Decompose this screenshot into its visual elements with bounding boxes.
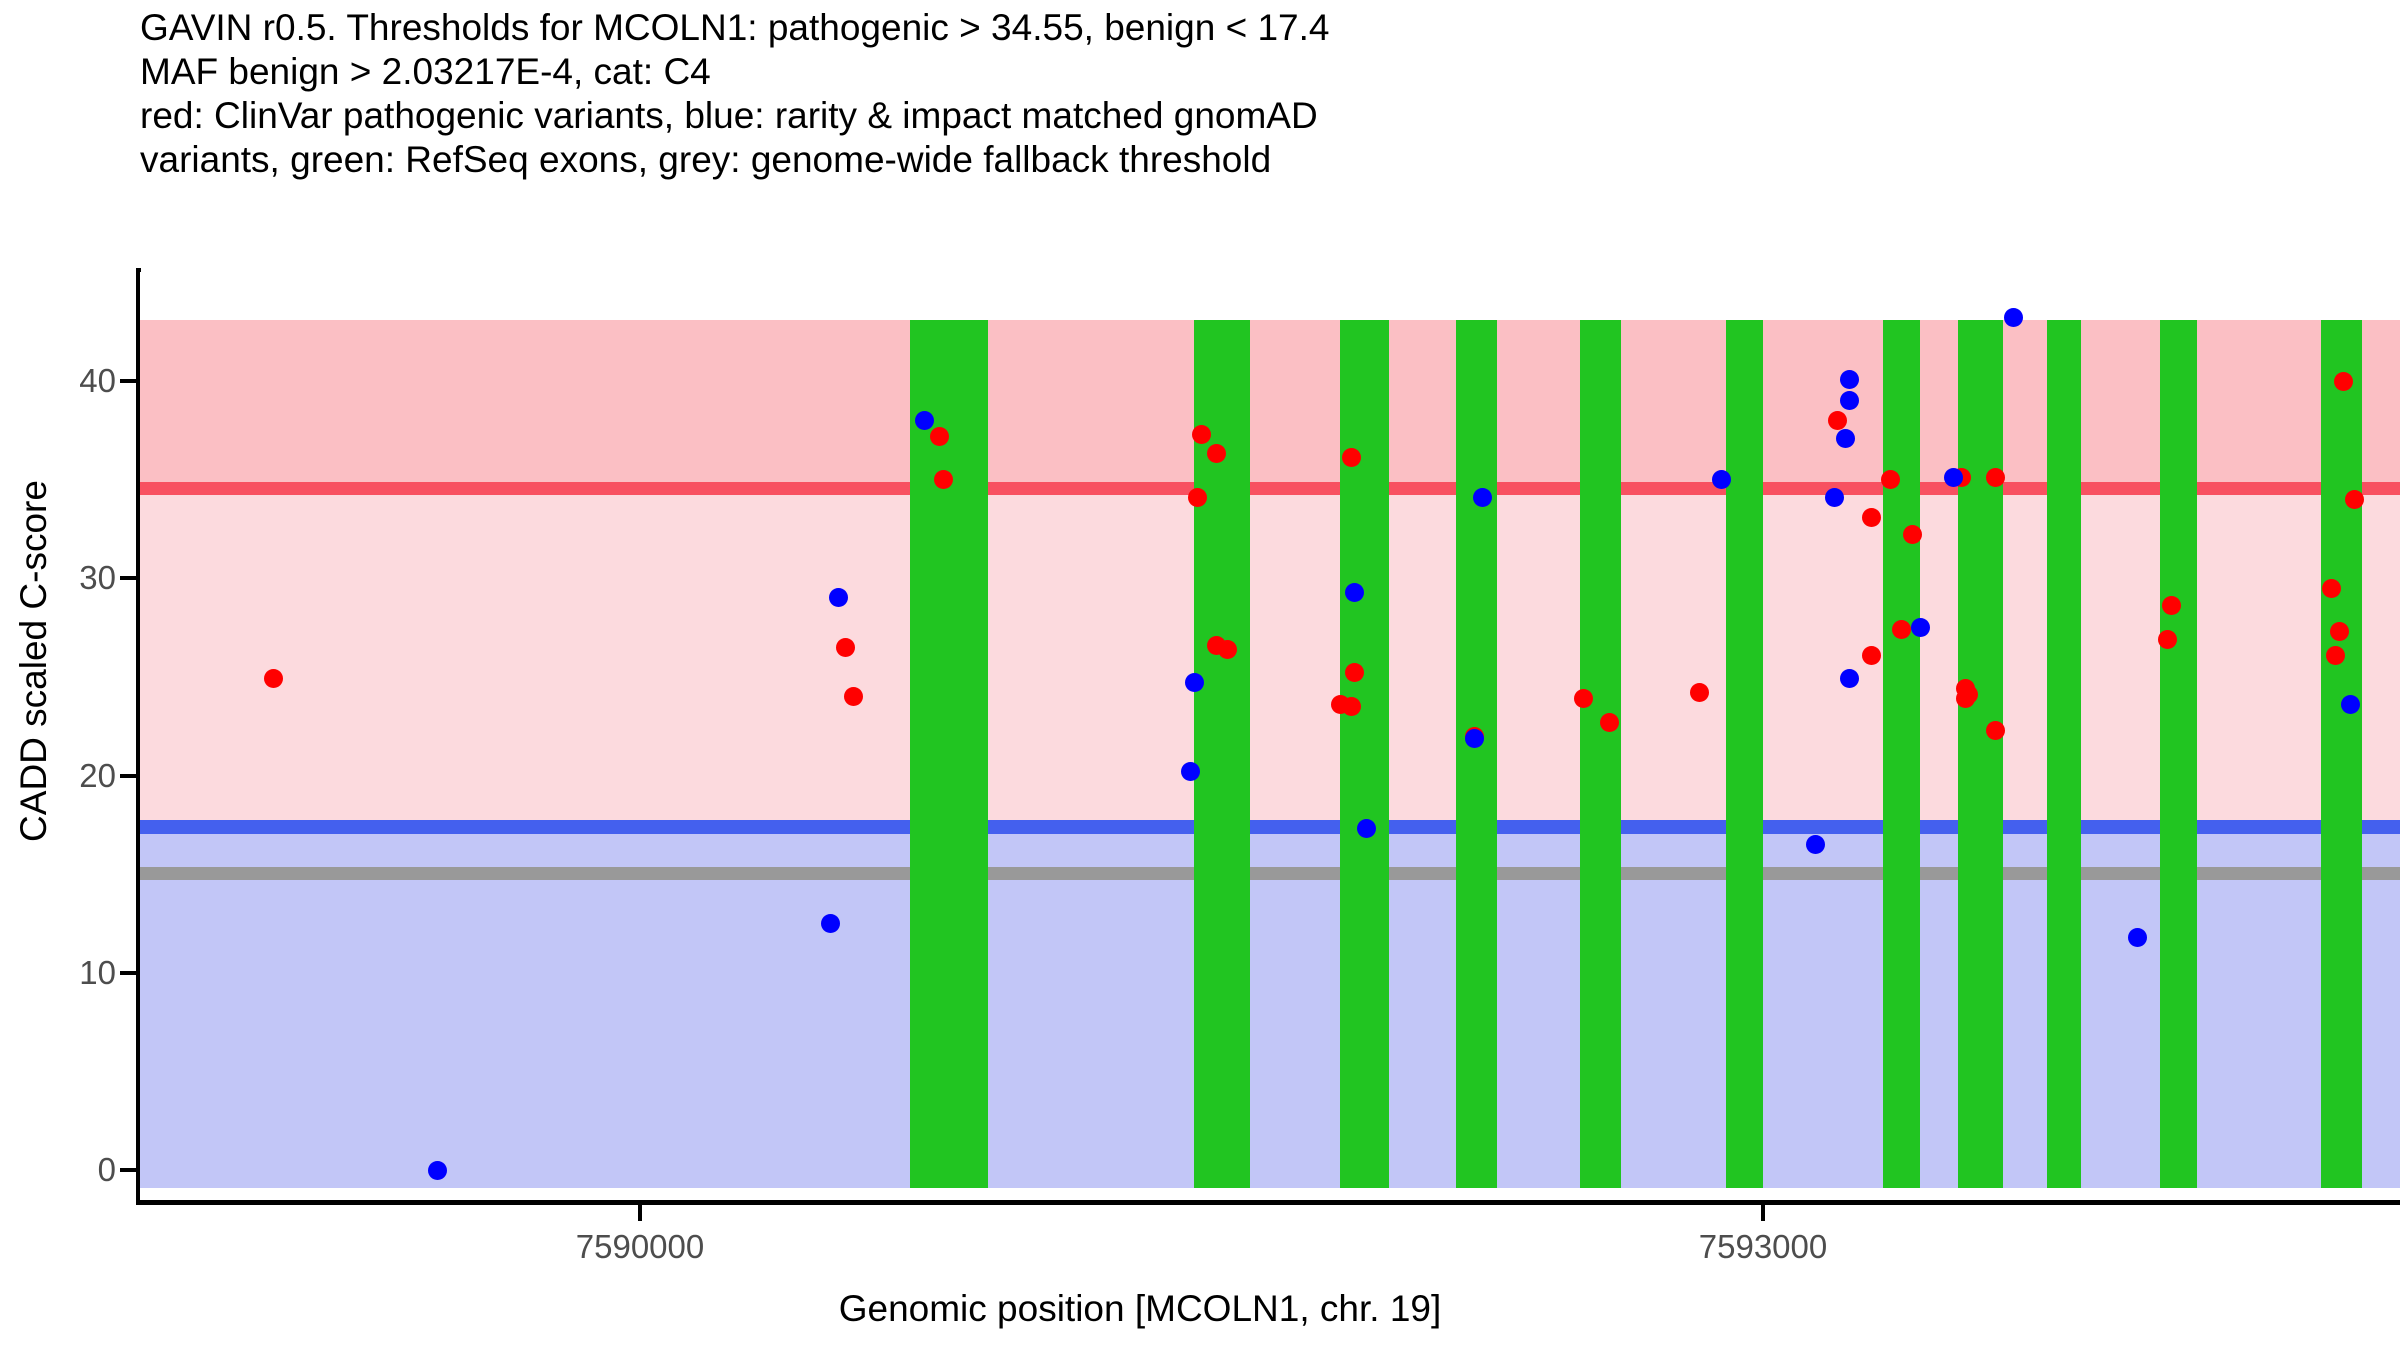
gnomad-point [1181, 762, 1200, 781]
pathogenic-point [1956, 689, 1975, 708]
gnomad-point [1806, 835, 1825, 854]
gnomad-point [915, 411, 934, 430]
pathogenic-point [2322, 579, 2341, 598]
pathogenic-point [1690, 683, 1709, 702]
chart-title-line: variants, green: RefSeq exons, grey: gen… [140, 138, 2380, 182]
x-axis-tick [1761, 1205, 1765, 1221]
x-axis-line [136, 1200, 2400, 1205]
gnomad-point [1345, 583, 1364, 602]
pathogenic-point [2345, 490, 2364, 509]
pathogenic-point [2334, 372, 2353, 391]
pathogenic-point [1342, 697, 1361, 716]
pathogenic-point [2326, 646, 2345, 665]
gnomad-point [428, 1161, 447, 1180]
gnomad-point [1911, 618, 1930, 637]
gnomad-point [1836, 429, 1855, 448]
y-axis-tick [120, 379, 136, 383]
pathogenic-point [1218, 640, 1237, 659]
gnomad-point [1840, 370, 1859, 389]
pathogenic-point [1192, 425, 1211, 444]
pathogenic-point [1881, 470, 1900, 489]
pathogenic-point [2158, 630, 2177, 649]
x-axis-tick-label: 7593000 [1699, 1228, 1827, 1266]
gnomad-point [1840, 391, 1859, 410]
gnomad-point [1825, 488, 1844, 507]
pathogenic-point [1892, 620, 1911, 639]
y-axis-tick [120, 1168, 136, 1172]
pathogenic-point [1188, 488, 1207, 507]
gnomad-point [1465, 729, 1484, 748]
y-axis-tick-label: 20 [79, 757, 116, 795]
pathogenic-point [1574, 689, 1593, 708]
exon-bar [2160, 320, 2197, 1188]
pathogenic-point [1862, 508, 1881, 527]
pathogenic-point [2162, 596, 2181, 615]
pathogenic-point [1986, 721, 2005, 740]
chart-title-line: GAVIN r0.5. Thresholds for MCOLN1: patho… [140, 6, 2380, 50]
y-axis-tick-label: 40 [79, 362, 116, 400]
x-axis-tick-label: 7590000 [576, 1228, 704, 1266]
gnomad-point [1840, 669, 1859, 688]
exon-bar [1456, 320, 1497, 1188]
y-axis-tick-label: 30 [79, 559, 116, 597]
exon-bar [910, 320, 989, 1188]
pathogenic-point [844, 687, 863, 706]
plot-panel [140, 272, 2400, 1200]
gnomad-point [2128, 928, 2147, 947]
exon-bar [1726, 320, 1763, 1188]
pathogenic-point [1600, 713, 1619, 732]
exon-bar [1883, 320, 1920, 1188]
gnomad-point [1357, 819, 1376, 838]
chart-title-block: GAVIN r0.5. Thresholds for MCOLN1: patho… [140, 6, 2380, 182]
x-axis-title: Genomic position [MCOLN1, chr. 19] [140, 1288, 2140, 1330]
gnomad-point [1185, 673, 1204, 692]
chart-title-line: red: ClinVar pathogenic variants, blue: … [140, 94, 2380, 138]
y-axis-title: CADD scaled C-score [13, 311, 55, 1011]
y-axis-tick-label: 10 [79, 954, 116, 992]
pathogenic-point [930, 427, 949, 446]
pathogenic-point [1862, 646, 1881, 665]
exon-bar [1958, 320, 2003, 1188]
x-axis-tick [638, 1205, 642, 1221]
y-axis-tick [120, 576, 136, 580]
gnomad-point [1473, 488, 1492, 507]
y-axis-tick [120, 774, 136, 778]
pathogenic-point [2330, 622, 2349, 641]
chart-title-line: MAF benign > 2.03217E-4, cat: C4 [140, 50, 2380, 94]
y-axis-tick-label: 0 [98, 1151, 116, 1189]
exon-bar [2047, 320, 2081, 1188]
y-axis-tick [120, 971, 136, 975]
chart-root: GAVIN r0.5. Thresholds for MCOLN1: patho… [0, 0, 2400, 1350]
pathogenic-point [1986, 468, 2005, 487]
pathogenic-point [934, 470, 953, 489]
pathogenic-point [264, 669, 283, 688]
exon-bar [2321, 320, 2362, 1188]
exon-bar [1580, 320, 1621, 1188]
